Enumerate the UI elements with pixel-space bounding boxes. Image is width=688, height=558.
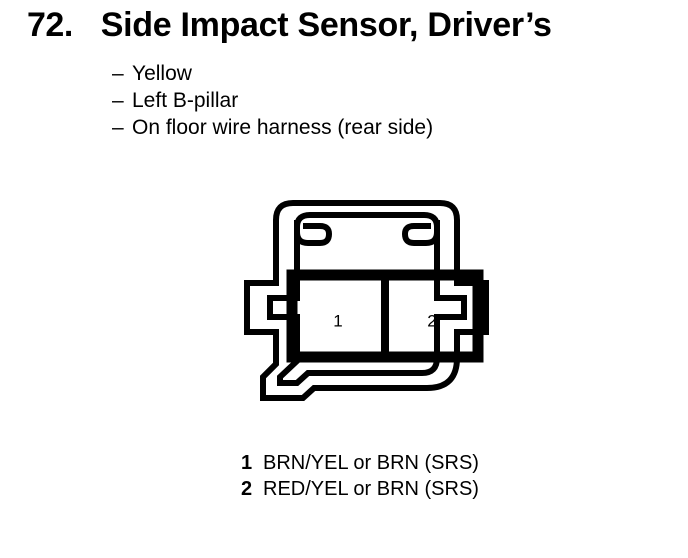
connector-latch-hook-right: [405, 220, 437, 243]
legend-pin-number: 1: [241, 450, 263, 476]
pin-number-2: 2: [427, 311, 436, 330]
legend-pin-description: BRN/YEL or BRN (SRS): [263, 450, 479, 476]
spec-item-label: Left B-pillar: [132, 87, 238, 114]
legend-row: 2RED/YEL or BRN (SRS): [241, 476, 479, 502]
spec-item: –On floor wire harness (rear side): [112, 114, 433, 141]
spec-list: –Yellow –Left B-pillar –On floor wire ha…: [112, 60, 433, 141]
connector-outline-graphic: 1 2: [200, 170, 530, 420]
dash-bullet-icon: –: [112, 114, 132, 141]
legend-row: 1BRN/YEL or BRN (SRS): [241, 450, 479, 476]
spec-item: –Yellow: [112, 60, 433, 87]
dash-bullet-icon: –: [112, 60, 132, 87]
page-title: 72.Side Impact Sensor, Driver’s: [27, 6, 552, 45]
dash-bullet-icon: –: [112, 87, 132, 114]
legend-pin-number: 2: [241, 476, 263, 502]
page-title-text: Side Impact Sensor, Driver’s: [101, 6, 552, 45]
pin-number-1: 1: [333, 311, 342, 330]
connector-diagram: 1 2: [200, 170, 530, 420]
spec-item: –Left B-pillar: [112, 87, 433, 114]
spec-item-label: On floor wire harness (rear side): [132, 114, 433, 141]
spec-item-label: Yellow: [132, 60, 192, 87]
legend-pin-description: RED/YEL or BRN (SRS): [263, 476, 479, 502]
item-number: 72.: [27, 6, 73, 45]
pin-legend: 1BRN/YEL or BRN (SRS) 2RED/YEL or BRN (S…: [241, 450, 479, 502]
connector-latch-hook-left: [297, 220, 329, 243]
